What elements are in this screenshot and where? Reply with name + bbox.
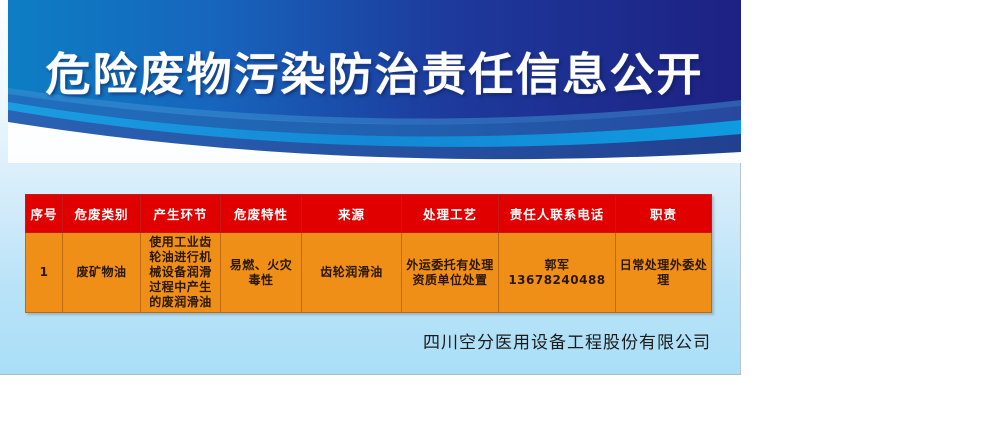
col-header-contact: 责任人联系电话	[499, 195, 616, 233]
table-body: 1 废矿物油 使用工业齿轮油进行机械设备润滑过程中产生的废润滑油 易燃、火灾毒性…	[26, 233, 712, 313]
cell-contact: 郭军 13678240488	[499, 233, 616, 313]
table-header-row: 序号 危废类别 产生环节 危废特性 来源 处理工艺 责任人联系电话 职责	[26, 195, 712, 233]
table-row: 1 废矿物油 使用工业齿轮油进行机械设备润滑过程中产生的废润滑油 易燃、火灾毒性…	[26, 233, 712, 313]
cell-source: 齿轮润滑油	[302, 233, 402, 313]
hazardous-waste-table: 序号 危废类别 产生环节 危废特性 来源 处理工艺 责任人联系电话 职责 1 废…	[25, 194, 712, 313]
cell-category: 废矿物油	[63, 233, 141, 313]
cell-duty: 日常处理外委处理	[616, 233, 712, 313]
banner: 危险废物污染防治责任信息公开	[8, 0, 741, 163]
page-title: 危险废物污染防治责任信息公开	[8, 48, 741, 102]
poster-page: 危险废物污染防治责任信息公开 序号 危废类别 产生环节 危废特性 来源 处理工艺…	[0, 0, 1000, 442]
col-header-property: 危废特性	[221, 195, 302, 233]
cell-property: 易燃、火灾毒性	[221, 233, 302, 313]
cell-stage: 使用工业齿轮油进行机械设备润滑过程中产生的废润滑油	[141, 233, 221, 313]
cell-index: 1	[26, 233, 63, 313]
company-name: 四川空分医用设备工程股份有限公司	[0, 328, 711, 353]
col-header-category: 危废类别	[63, 195, 141, 233]
table-header: 序号 危废类别 产生环节 危废特性 来源 处理工艺 责任人联系电话 职责	[26, 195, 712, 233]
col-header-stage: 产生环节	[141, 195, 221, 233]
col-header-source: 来源	[302, 195, 402, 233]
contact-name: 郭军	[502, 258, 612, 273]
col-header-index: 序号	[26, 195, 63, 233]
contact-phone: 13678240488	[502, 273, 612, 288]
col-header-process: 处理工艺	[402, 195, 499, 233]
col-header-duty: 职责	[616, 195, 712, 233]
cell-process: 外运委托有处理资质单位处置	[402, 233, 499, 313]
